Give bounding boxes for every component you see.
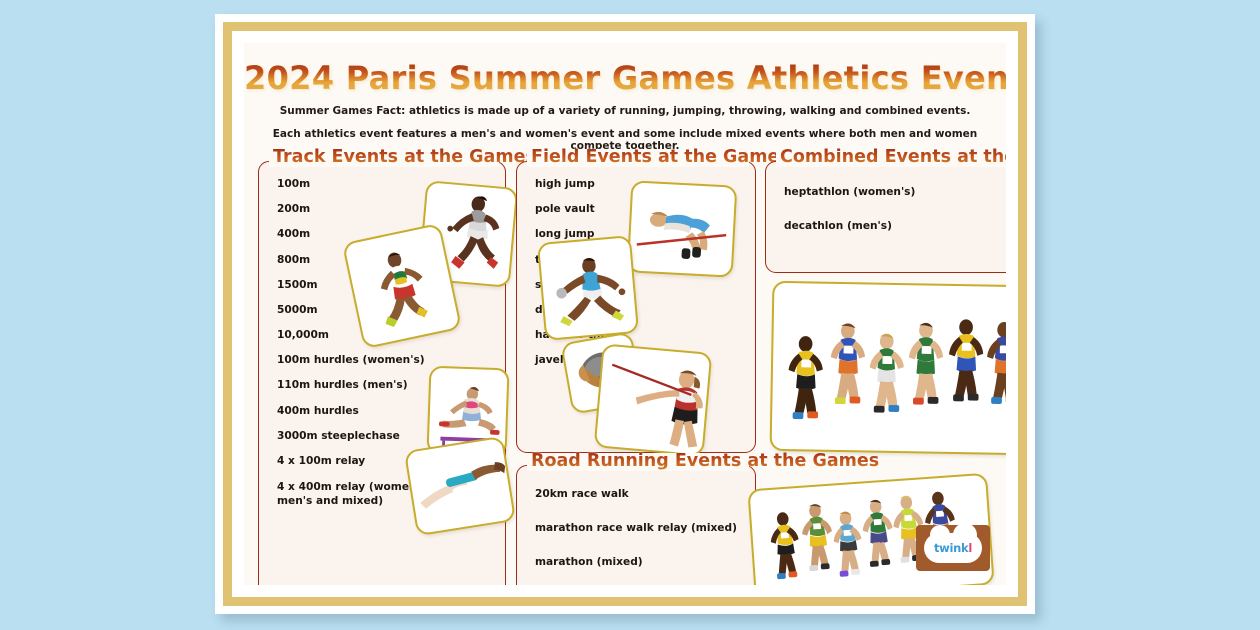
section-heading-combined: Combined Events at the Games xyxy=(776,149,1006,167)
poster-white-inset: 2024 Paris Summer Games Athletics Events… xyxy=(238,37,1012,591)
poster-content: 2024 Paris Summer Games Athletics Events… xyxy=(244,43,1006,585)
section-road-running-events: Road Running Events at the Games 20km ra… xyxy=(516,465,756,585)
section-heading-field: Field Events at the Games xyxy=(527,149,749,167)
twinkl-cloud-icon: twinkl xyxy=(924,533,982,563)
twinkl-wordmark: twinkl xyxy=(934,541,972,555)
list-item: marathon (mixed) xyxy=(535,556,749,568)
list-item: 100m hurdles (women's) xyxy=(277,354,499,366)
relay-baton-handoff-photo xyxy=(404,436,516,537)
list-item: marathon race walk relay (mixed) xyxy=(535,522,749,534)
list-item: heptathlon (women's) xyxy=(784,186,1006,198)
poster: 2024 Paris Summer Games Athletics Events… xyxy=(215,14,1035,614)
section-heading-track: Track Events at the Games xyxy=(269,149,499,167)
screen: 2024 Paris Summer Games Athletics Events… xyxy=(0,0,1260,630)
page-title: 2024 Paris Summer Games Athletics Events xyxy=(244,59,1006,97)
twinkl-logo[interactable]: twinkl xyxy=(916,525,990,571)
javelin-thrower-photo xyxy=(594,343,713,456)
road-event-list: 20km race walk marathon race walk relay … xyxy=(535,488,749,582)
high-jumper-photo xyxy=(627,180,738,277)
poster-gold-border: 2024 Paris Summer Games Athletics Events… xyxy=(223,22,1027,606)
combined-event-list: heptathlon (women's) decathlon (men's) xyxy=(784,186,1006,245)
section-heading-road: Road Running Events at the Games xyxy=(527,453,749,471)
section-combined-events: Combined Events at the Games heptathlon … xyxy=(765,161,1006,273)
fact-line-1: Summer Games Fact: athletics is made up … xyxy=(278,105,972,117)
group-of-runners-photo xyxy=(770,281,1006,455)
list-item: decathlon (men's) xyxy=(784,220,1006,232)
shot-putter-photo xyxy=(537,235,639,341)
list-item: 20km race walk xyxy=(535,488,749,500)
